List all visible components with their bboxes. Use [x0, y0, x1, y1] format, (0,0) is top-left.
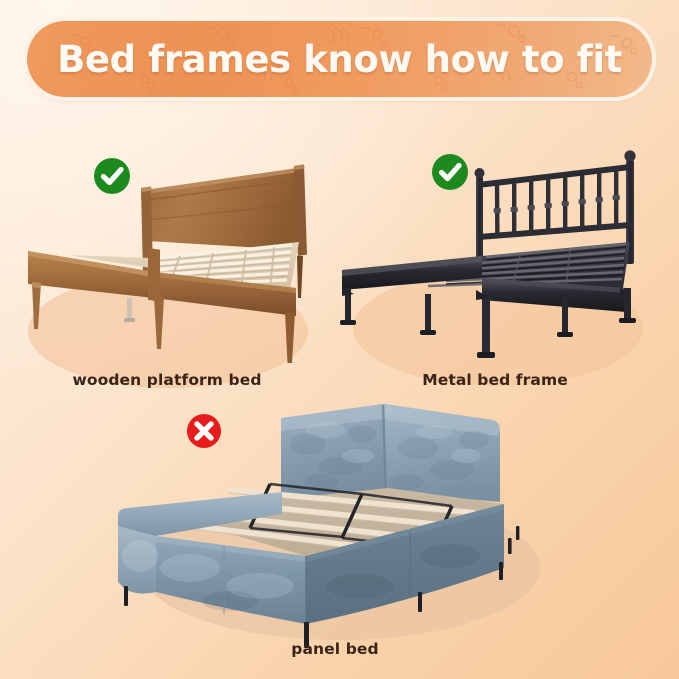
check-circle-icon: [430, 152, 470, 192]
metal-bed-frame-illustration: [330, 138, 660, 400]
wooden-platform-bed-illustration: [8, 138, 326, 400]
x-circle-icon: [185, 412, 223, 450]
badge-compatible-metal: [430, 152, 470, 196]
title-banner: Bed frames know how to fit: [27, 21, 652, 97]
card-panel-bed: panel bed: [100, 396, 570, 674]
card-metal-bed-frame: Metal bed frame: [330, 138, 660, 400]
panel-bed-illustration: [100, 396, 570, 674]
caption-metal-bed-frame: Metal bed frame: [330, 371, 660, 389]
banner-title: Bed frames know how to fit: [27, 21, 652, 97]
infographic-canvas: Bed frames know how to fit: [0, 0, 679, 679]
badge-compatible-wooden: [92, 156, 132, 200]
check-circle-icon: [92, 156, 132, 196]
badge-incompatible-panel: [185, 412, 223, 454]
card-wooden-platform-bed: wooden platform bed: [8, 138, 326, 400]
caption-panel-bed: panel bed: [100, 640, 570, 658]
caption-wooden-platform-bed: wooden platform bed: [8, 371, 326, 389]
